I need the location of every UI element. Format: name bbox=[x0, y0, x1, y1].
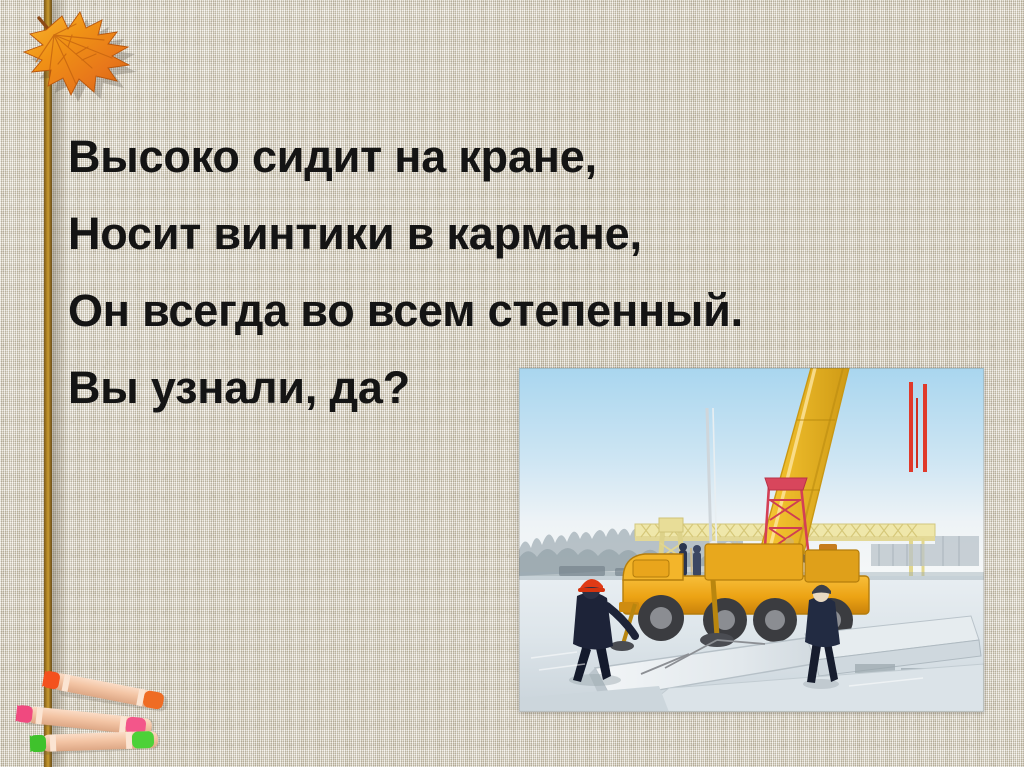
pink-crayon bbox=[16, 705, 153, 736]
maple-leaf-icon bbox=[16, 2, 142, 102]
verse-line-2: Носит винтики в кармане, bbox=[68, 195, 988, 272]
vertical-accent-line bbox=[44, 0, 52, 767]
accent-line-shadow bbox=[52, 0, 68, 767]
crayons-decoration bbox=[14, 669, 194, 765]
orange-crayon bbox=[42, 670, 165, 710]
verse-line-3: Он всегда во всем степенный. bbox=[68, 272, 988, 349]
presentation-slide: Высоко сидит на кране, Носит винтики в к… bbox=[0, 0, 1024, 767]
verse-line-1: Высоко сидит на кране, bbox=[68, 118, 988, 195]
construction-site-photo bbox=[519, 368, 984, 712]
